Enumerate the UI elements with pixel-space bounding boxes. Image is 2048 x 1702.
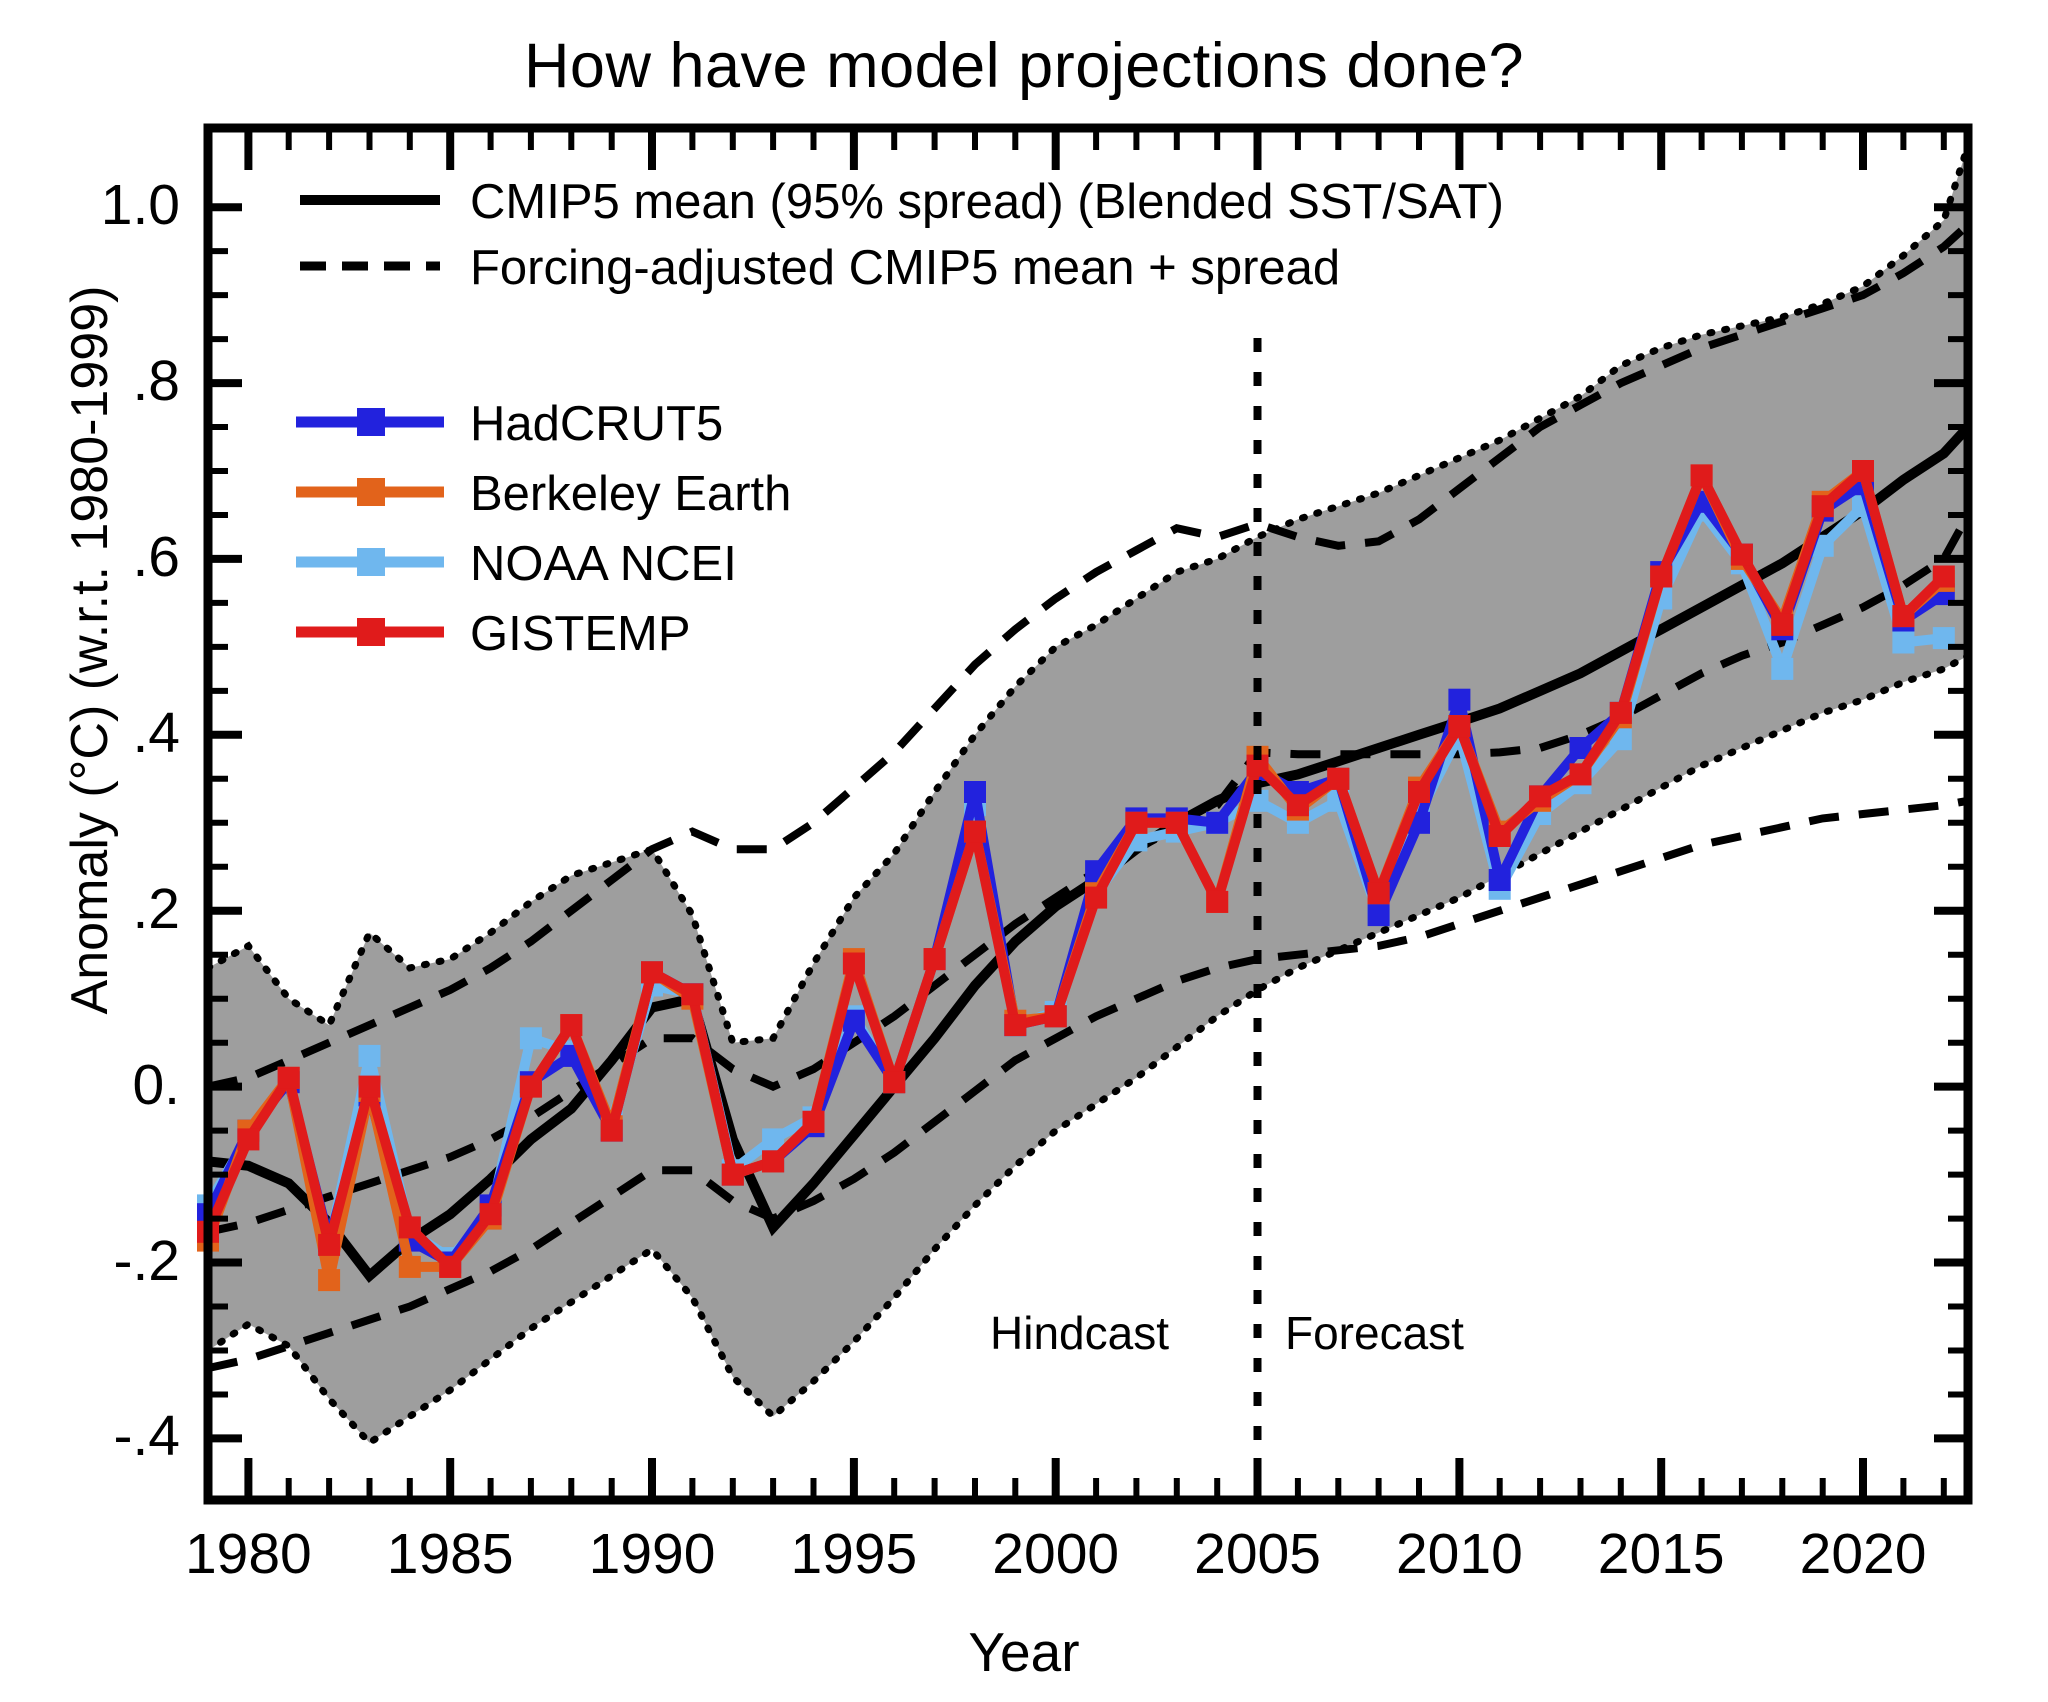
forecast-label: Forecast — [1285, 1310, 1464, 1356]
series-marker-noaa-ncei — [1892, 632, 1914, 654]
series-marker-gistemp — [1206, 891, 1228, 913]
chart-figure: How have model projections done? Anomaly… — [0, 0, 2048, 1702]
legend-marker-hadcrut5 — [357, 408, 385, 436]
series-marker-gistemp — [1852, 460, 1874, 482]
y-tick-label: .6 — [20, 529, 180, 586]
y-tick-label: .8 — [20, 353, 180, 410]
legend-label-gistemp: GISTEMP — [470, 610, 691, 659]
legend-label-hadcrut5: HadCRUT5 — [470, 400, 723, 449]
series-marker-hadcrut5 — [1206, 812, 1228, 834]
x-tick-label: 2000 — [946, 1526, 1166, 1583]
series-marker-gistemp — [1529, 785, 1551, 807]
series-marker-gistemp — [883, 1071, 905, 1093]
series-marker-gistemp — [278, 1067, 300, 1089]
series-marker-noaa-ncei — [1771, 658, 1793, 680]
series-marker-gistemp — [681, 983, 703, 1005]
series-marker-berkeley-earth — [318, 1269, 340, 1291]
x-tick-label: 2020 — [1753, 1526, 1973, 1583]
x-tick-label: 2015 — [1551, 1526, 1771, 1583]
series-marker-berkeley-earth — [399, 1256, 421, 1278]
series-marker-gistemp — [1731, 544, 1753, 566]
series-marker-gistemp — [1812, 495, 1834, 517]
series-marker-gistemp — [641, 961, 663, 983]
series-marker-gistemp — [1408, 781, 1430, 803]
legend-marker-berkeley-earth — [357, 478, 385, 506]
x-tick-label: 2005 — [1148, 1526, 1368, 1583]
series-marker-gistemp — [964, 821, 986, 843]
series-marker-gistemp — [560, 1014, 582, 1036]
series-marker-gistemp — [1085, 887, 1107, 909]
series-marker-gistemp — [439, 1256, 461, 1278]
series-marker-gistemp — [1368, 882, 1390, 904]
series-marker-gistemp — [1570, 763, 1592, 785]
series-marker-gistemp — [1327, 768, 1349, 790]
x-tick-label: 2010 — [1349, 1526, 1569, 1583]
series-marker-gistemp — [1933, 566, 1955, 588]
legend-marker-gistemp — [357, 618, 385, 646]
series-marker-gistemp — [924, 948, 946, 970]
y-tick-label: 0. — [20, 1057, 180, 1114]
legend-label-noaa-ncei: NOAA NCEI — [470, 540, 737, 589]
series-marker-gistemp — [237, 1128, 259, 1150]
y-tick-label: 1.0 — [20, 177, 180, 234]
series-marker-gistemp — [1691, 464, 1713, 486]
series-marker-gistemp — [843, 953, 865, 975]
y-tick-label: -.2 — [20, 1233, 180, 1290]
series-marker-gistemp — [1489, 825, 1511, 847]
x-tick-label: 1985 — [340, 1526, 560, 1583]
x-tick-label: 1990 — [542, 1526, 762, 1583]
series-marker-gistemp — [1004, 1014, 1026, 1036]
series-marker-gistemp — [601, 1120, 623, 1142]
series-marker-gistemp — [318, 1234, 340, 1256]
series-marker-noaa-ncei — [359, 1045, 381, 1067]
series-marker-gistemp — [1448, 715, 1470, 737]
series-marker-gistemp — [1045, 1005, 1067, 1027]
series-marker-hadcrut5 — [964, 781, 986, 803]
series-marker-gistemp — [1610, 702, 1632, 724]
legend-marker-noaa-ncei — [357, 548, 385, 576]
series-marker-gistemp — [480, 1203, 502, 1225]
x-tick-label: 1995 — [744, 1526, 964, 1583]
series-marker-gistemp — [1166, 812, 1188, 834]
series-marker-gistemp — [803, 1111, 825, 1133]
legend-label-forcing-adjusted: Forcing-adjusted CMIP5 mean + spread — [470, 244, 1340, 293]
series-marker-gistemp — [1771, 614, 1793, 636]
series-marker-gistemp — [1287, 794, 1309, 816]
y-tick-label: .2 — [20, 881, 180, 938]
series-marker-gistemp — [1892, 605, 1914, 627]
y-tick-label: .4 — [20, 705, 180, 762]
legend-label-cmip5-mean: CMIP5 mean (95% spread) (Blended SST/SAT… — [470, 178, 1504, 227]
series-marker-gistemp — [399, 1216, 421, 1238]
series-marker-gistemp — [762, 1150, 784, 1172]
series-marker-hadcrut5 — [1448, 689, 1470, 711]
y-tick-label: -.4 — [20, 1408, 180, 1465]
series-marker-hadcrut5 — [1368, 904, 1390, 926]
series-marker-hadcrut5 — [1489, 869, 1511, 891]
series-marker-gistemp — [520, 1076, 542, 1098]
series-marker-gistemp — [722, 1164, 744, 1186]
series-marker-gistemp — [1650, 566, 1672, 588]
series-marker-gistemp — [1125, 812, 1147, 834]
series-marker-noaa-ncei — [520, 1027, 542, 1049]
series-marker-gistemp — [359, 1076, 381, 1098]
hindcast-label: Hindcast — [990, 1310, 1169, 1356]
x-tick-label: 1980 — [138, 1526, 358, 1583]
legend-label-berkeley-earth: Berkeley Earth — [470, 470, 791, 519]
